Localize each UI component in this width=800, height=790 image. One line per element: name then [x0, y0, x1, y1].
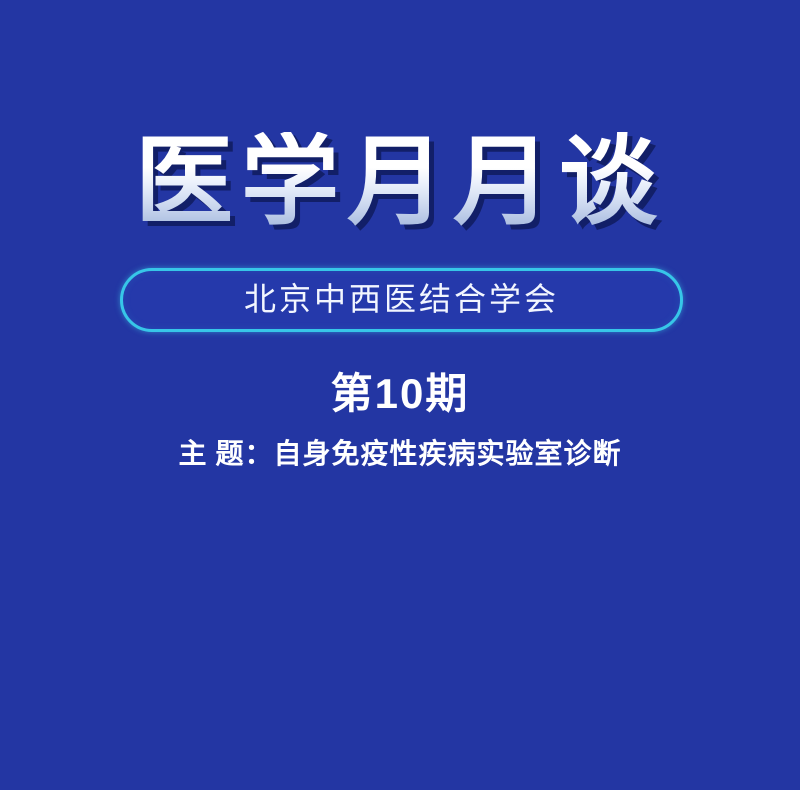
issue-number: 第10期 [0, 373, 800, 415]
poster-title: 医学月月谈 医学月月谈 [0, 132, 800, 236]
topic-line: 主 题：自身免疫性疾病实验室诊断 [0, 440, 800, 471]
poster-canvas: 医学月月谈 医学月月谈 北京中西医结合学会 第10期 主 题：自身免疫性疾病实验… [0, 0, 800, 790]
organization-name: 北京中西医结合学会 [244, 283, 559, 315]
organization-capsule: 北京中西医结合学会 [120, 268, 683, 332]
poster-title-text: 医学月月谈 [0, 132, 800, 236]
